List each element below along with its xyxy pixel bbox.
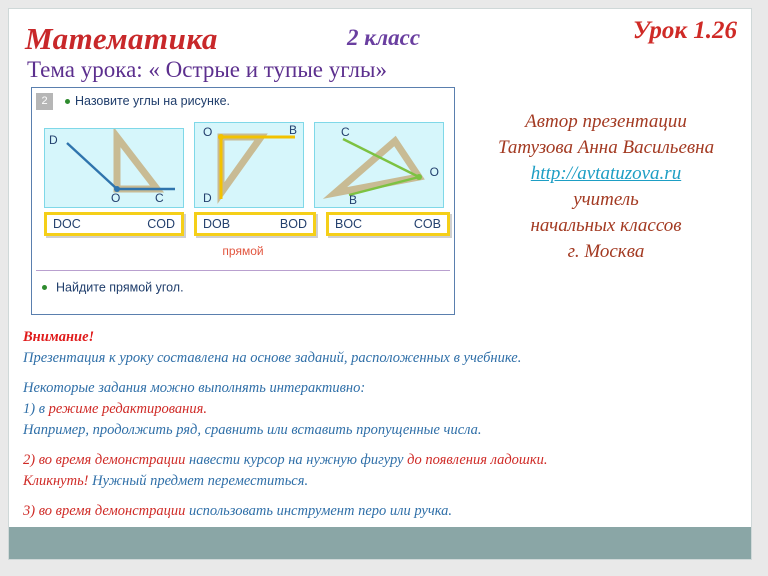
notes-line-1: Презентация к уроку составлена на основе… [23, 348, 739, 369]
notes-line-5c: до появления ладошки. [407, 452, 547, 468]
figure-boc-drawing [315, 123, 443, 207]
task-header: 2 Назовите углы на рисунке. [36, 92, 230, 110]
notes-warning: Внимание! [23, 327, 739, 348]
answer-box-doc[interactable]: DOC COD [44, 212, 184, 236]
author-city: г. Москва [461, 239, 751, 265]
bullet-icon [65, 99, 70, 104]
notes-line-5: 2) во время демонстрации навести курсор … [23, 450, 739, 471]
figure-boc[interactable]: C O B [314, 122, 444, 208]
notes-line-5a: 2) во время демонстрации [23, 452, 189, 468]
author-block: Автор презентации Татузова Анна Васильев… [461, 109, 751, 265]
figure-dob-label-b: B [289, 123, 297, 137]
figure-dob-label-o: O [203, 125, 212, 139]
notes-line-4: Например, продолжить ряд, сравнить или в… [23, 420, 739, 441]
figure-doc-label-d: D [49, 133, 58, 147]
notes-line-7b: использовать инструмент перо или ручка. [189, 503, 452, 519]
answer-boc-left: BOC [335, 217, 362, 231]
answer-doc-right: COD [147, 217, 175, 231]
task-number-badge: 2 [36, 93, 53, 110]
notes-line-3a: 1) в [23, 401, 49, 417]
answer-label-pryamoy: прямой [32, 244, 454, 258]
panel-divider [36, 270, 450, 271]
answer-boxes: DOC COD DOB BOD BOC COB [38, 212, 450, 238]
author-role: учитель [461, 187, 751, 213]
author-line-1: Автор презентации [461, 109, 751, 135]
slide-header: Математика 2 класс Урок 1.26 Тема урока:… [9, 9, 751, 81]
answer-box-dob[interactable]: DOB BOD [194, 212, 316, 236]
bullet-icon-2 [42, 285, 47, 290]
answer-box-boc[interactable]: BOC COB [326, 212, 450, 236]
answer-dob-left: DOB [203, 217, 230, 231]
task-instruction: Назовите углы на рисунке. [75, 94, 230, 108]
lesson-topic: Тема урока: « Острые и тупые углы» [27, 57, 387, 83]
grade-label: 2 класс [347, 25, 420, 51]
notes-line-5b: навести курсор на нужную фигуру [189, 452, 407, 468]
notes-line-3: 1) в режиме редактирования. [23, 399, 739, 420]
notes-line-6b: Нужный предмет переместиться. [92, 473, 308, 489]
answer-boc-right: COB [414, 217, 441, 231]
figure-doc[interactable]: D O C [44, 128, 184, 208]
author-website-link[interactable]: http://avtatuzova.ru [531, 163, 681, 184]
notes-line-7: 3) во время демонстрации использовать ин… [23, 501, 739, 522]
task2-header: Найдите прямой угол. [38, 278, 184, 296]
notes-line-6: Кликнуть! Нужный предмет переместиться. [23, 471, 739, 492]
task2-instruction: Найдите прямой угол. [56, 280, 184, 294]
figure-doc-label-o: O [111, 191, 120, 205]
figure-boc-label-b: B [349, 193, 357, 207]
author-name: Татузова Анна Васильевна [461, 135, 751, 161]
answer-dob-right: BOD [280, 217, 307, 231]
figure-dob[interactable]: O B D [194, 122, 304, 208]
footer-bar [9, 527, 751, 559]
figure-dob-label-d: D [203, 191, 212, 205]
answer-doc-left: DOC [53, 217, 81, 231]
lesson-number: Урок 1.26 [633, 17, 737, 45]
figure-boc-label-c: C [341, 125, 350, 139]
notes-block: Внимание! Презентация к уроку составлена… [23, 327, 739, 522]
figure-boc-label-o: O [430, 165, 439, 179]
subject-title: Математика [25, 21, 218, 57]
figure-doc-label-c: C [155, 191, 164, 205]
author-role-2: начальных классов [461, 213, 751, 239]
figures-row: D O C O B D [38, 114, 450, 210]
slide: Математика 2 класс Урок 1.26 Тема урока:… [8, 8, 752, 560]
notes-line-7a: 3) во время демонстрации [23, 503, 189, 519]
notes-line-3b: режиме редактирования. [49, 401, 207, 417]
notes-line-6a: Кликнуть! [23, 473, 92, 489]
notes-line-2: Некоторые задания можно выполнять интера… [23, 378, 739, 399]
textbook-panel: 2 Назовите углы на рисунке. D O C [31, 87, 455, 315]
